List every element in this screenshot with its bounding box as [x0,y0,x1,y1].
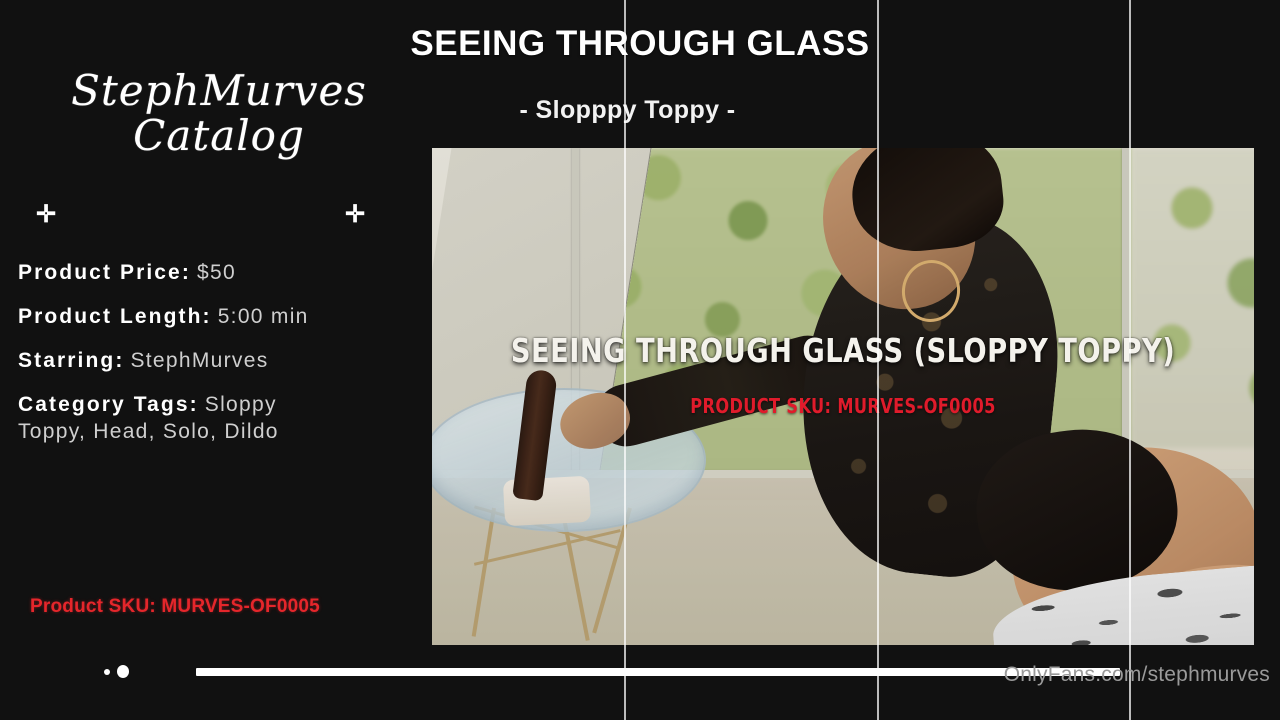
video-thumbnail[interactable]: SEEING THROUGH GLASS (SLOPPY TOPPY) PROD… [432,148,1254,645]
brand-logo: StephMurves Catalog [24,68,414,159]
pagination-dot-active[interactable] [117,665,129,678]
product-sku-label: Product SKU: MURVES-OF0005 [30,596,320,618]
brand-line-1: StephMurves [24,68,414,113]
thumbnail-overlay-sku: PRODUCT SKU: MURVES-OF0005 [473,394,1213,418]
page-title: SEEING THROUGH GLASS [0,24,1280,64]
brand-line-2: Catalog [24,113,414,158]
watermark-text: OnlyFans.com/stephmurves [880,663,1270,687]
guide-line-2 [877,0,879,720]
pagination-dot-inactive[interactable] [104,669,110,675]
page-subtitle: - Slopppy Toppy - [430,96,825,125]
spec-label-starring: Starring: [18,349,124,372]
spec-value-starring: StephMurves [130,349,268,372]
guide-line-1 [624,0,626,720]
slide-canvas: SEEING THROUGH GLASS - Slopppy Toppy - S… [0,0,1280,720]
spec-label-price: Product Price: [18,261,191,284]
spec-value-tags-line-1: Sloppy [205,393,277,416]
spec-row-length: Product Length: 5:00 min [18,306,418,327]
sparkle-icon-right: ✛ [345,203,365,227]
spec-label-length: Product Length: [18,305,212,328]
thumbnail-overlay-title: SEEING THROUGH GLASS (SLOPPY TOPPY) [465,331,1221,370]
guide-line-3 [1129,0,1131,720]
spec-value-length: 5:00 min [218,305,309,328]
spec-value-tags-line-2: Toppy, Head, Solo, Dildo [18,415,418,449]
spec-label-tags: Category Tags: [18,393,199,416]
spec-row-starring: Starring: StephMurves [18,350,418,371]
sparkle-icon-left: ✛ [36,203,56,227]
product-spec-list: Product Price: $50 Product Length: 5:00 … [18,262,418,449]
spec-value-price: $50 [197,261,236,284]
spec-row-price: Product Price: $50 [18,262,418,283]
spec-row-tags: Category Tags: Sloppy [18,394,418,415]
